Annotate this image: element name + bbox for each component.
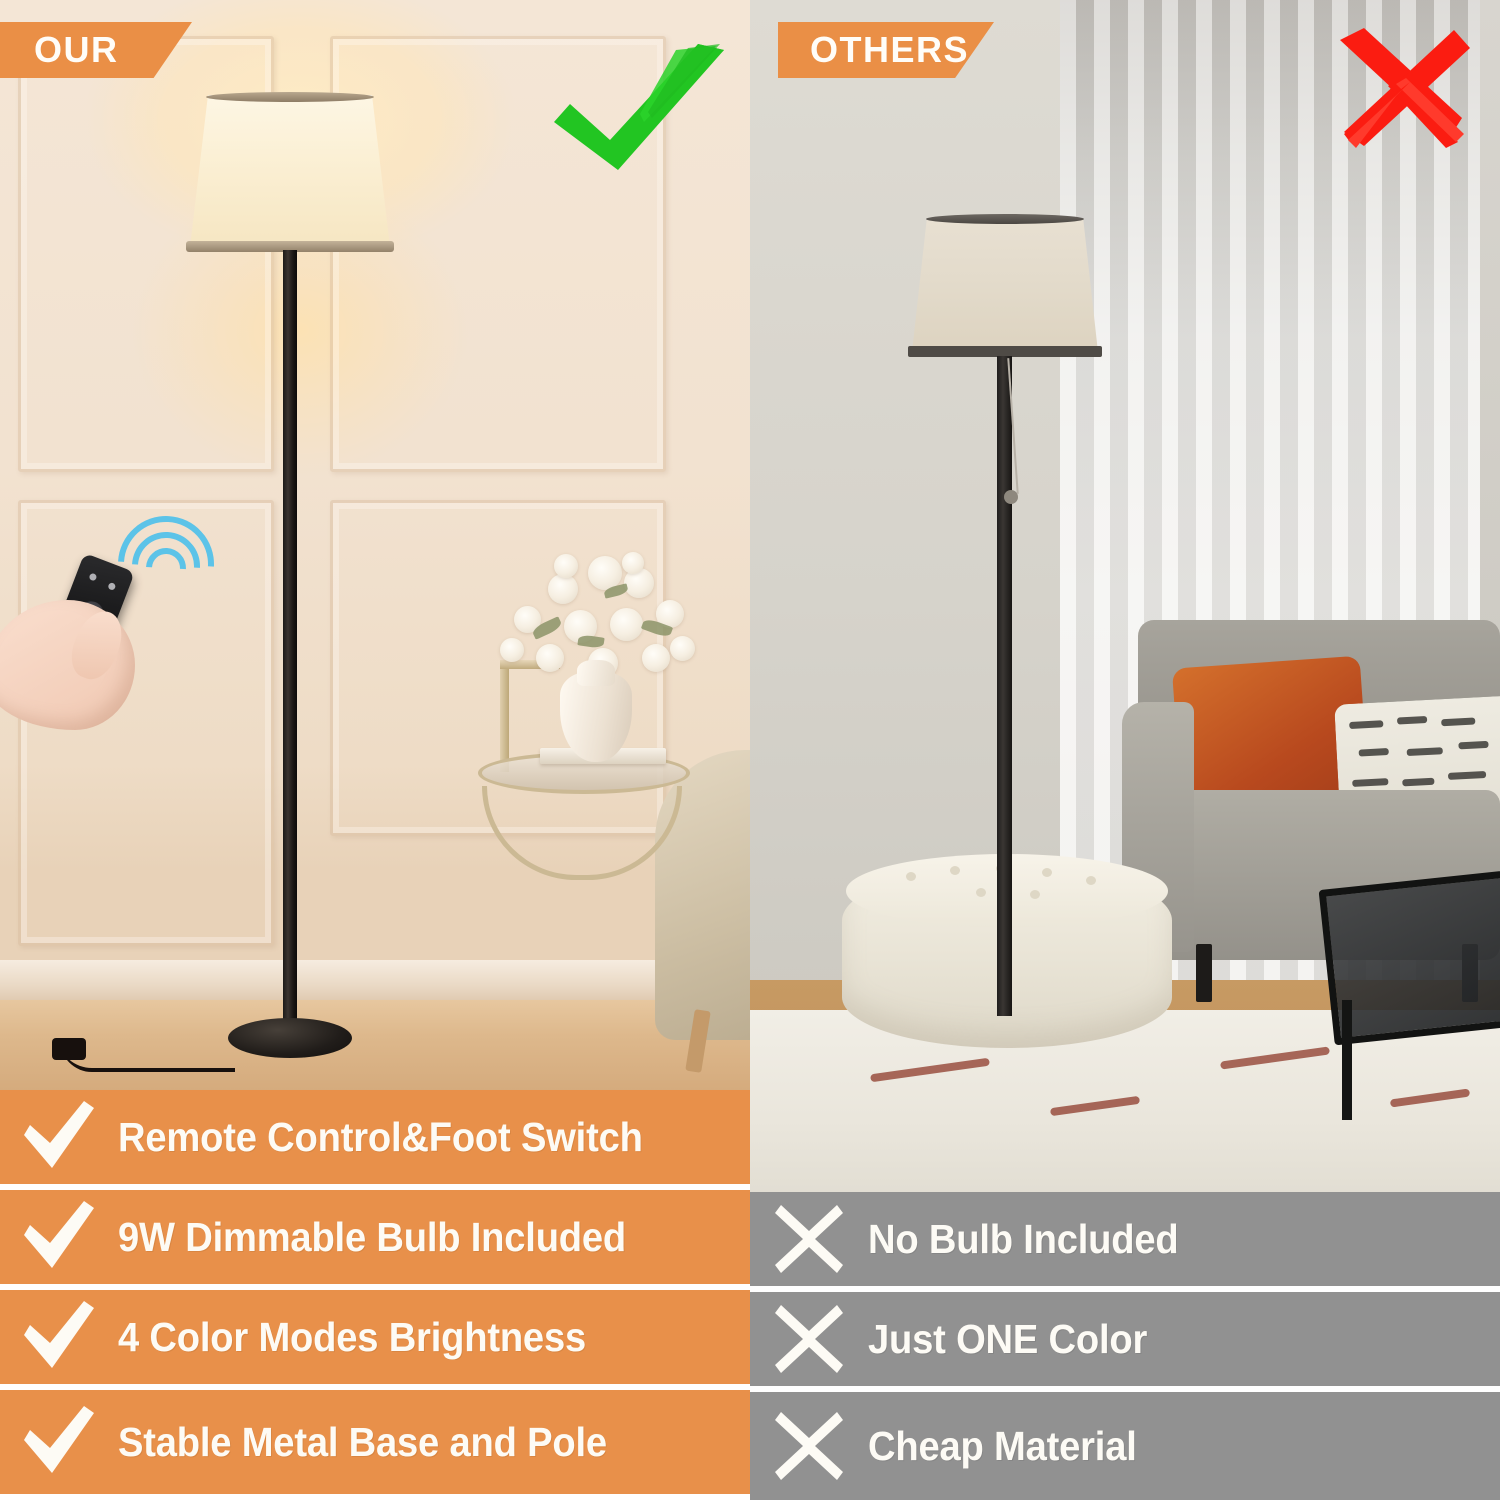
panel-our: Remote Control&Foot Switch 9W Dimmable B… xyxy=(0,0,750,1500)
lamp-pole xyxy=(283,250,297,1030)
lamp-shade-unlit xyxy=(912,218,1098,352)
check-icon xyxy=(0,1099,118,1175)
red-cross-brush-icon xyxy=(1330,22,1472,158)
list-item: Cheap Material xyxy=(750,1392,1500,1500)
list-item: Stable Metal Base and Pole xyxy=(0,1390,750,1494)
feature-label: Remote Control&Foot Switch xyxy=(118,1114,643,1161)
lamp-shade-lit xyxy=(190,95,390,247)
flower-bloom xyxy=(536,644,564,672)
feature-label: Cheap Material xyxy=(868,1423,1137,1470)
comparison-infographic: Remote Control&Foot Switch 9W Dimmable B… xyxy=(0,0,1500,1500)
others-product-photo xyxy=(750,0,1500,1192)
sofa-leg xyxy=(1196,944,1212,1002)
panel-others: No Bulb Included Just ONE Color Cheap Ma… xyxy=(750,0,1500,1500)
list-item: 4 Color Modes Brightness xyxy=(0,1290,750,1390)
flower-bloom xyxy=(642,644,670,672)
power-cord xyxy=(60,1040,235,1072)
flower-bloom xyxy=(554,554,578,578)
list-item: 9W Dimmable Bulb Included xyxy=(0,1190,750,1290)
others-feature-list: No Bulb Included Just ONE Color Cheap Ma… xyxy=(750,1192,1500,1500)
flower-bloom xyxy=(610,608,643,641)
feature-label: 9W Dimmable Bulb Included xyxy=(118,1214,626,1261)
lamp-base xyxy=(228,1018,352,1058)
vase-neck xyxy=(577,660,615,686)
feature-label: Stable Metal Base and Pole xyxy=(118,1419,607,1466)
lamp-shade-top-rim xyxy=(926,214,1084,224)
foot-switch xyxy=(52,1038,86,1060)
our-feature-list: Remote Control&Foot Switch 9W Dimmable B… xyxy=(0,1090,750,1500)
feature-label: Just ONE Color xyxy=(868,1316,1147,1363)
wireless-signal-waves-icon xyxy=(110,508,220,618)
coffee-table-leg xyxy=(1342,1000,1352,1120)
flower-bloom xyxy=(500,638,524,662)
list-item: Remote Control&Foot Switch xyxy=(0,1090,750,1190)
pull-chain-ball xyxy=(1004,490,1018,504)
flower-bloom xyxy=(670,636,695,661)
cross-icon xyxy=(750,1203,868,1275)
check-icon xyxy=(0,1404,118,1480)
check-icon xyxy=(0,1299,118,1375)
lamp-pole xyxy=(997,356,1012,1016)
check-icon xyxy=(0,1199,118,1275)
cross-icon xyxy=(750,1303,868,1375)
flower-bloom xyxy=(622,552,644,574)
side-table-base xyxy=(482,786,682,880)
cross-icon xyxy=(750,1410,868,1482)
flower-bloom xyxy=(548,574,578,604)
feature-label: No Bulb Included xyxy=(868,1216,1179,1263)
badge-others-label: OTHERS xyxy=(810,32,969,68)
lamp-shade-top-rim xyxy=(206,92,374,102)
list-item: Just ONE Color xyxy=(750,1292,1500,1392)
badge-our-label: OUR xyxy=(34,32,119,68)
list-item: No Bulb Included xyxy=(750,1192,1500,1292)
green-check-brush-icon xyxy=(548,44,728,174)
feature-label: 4 Color Modes Brightness xyxy=(118,1314,586,1361)
wall xyxy=(750,0,1090,1000)
flower-leaf xyxy=(577,634,604,649)
